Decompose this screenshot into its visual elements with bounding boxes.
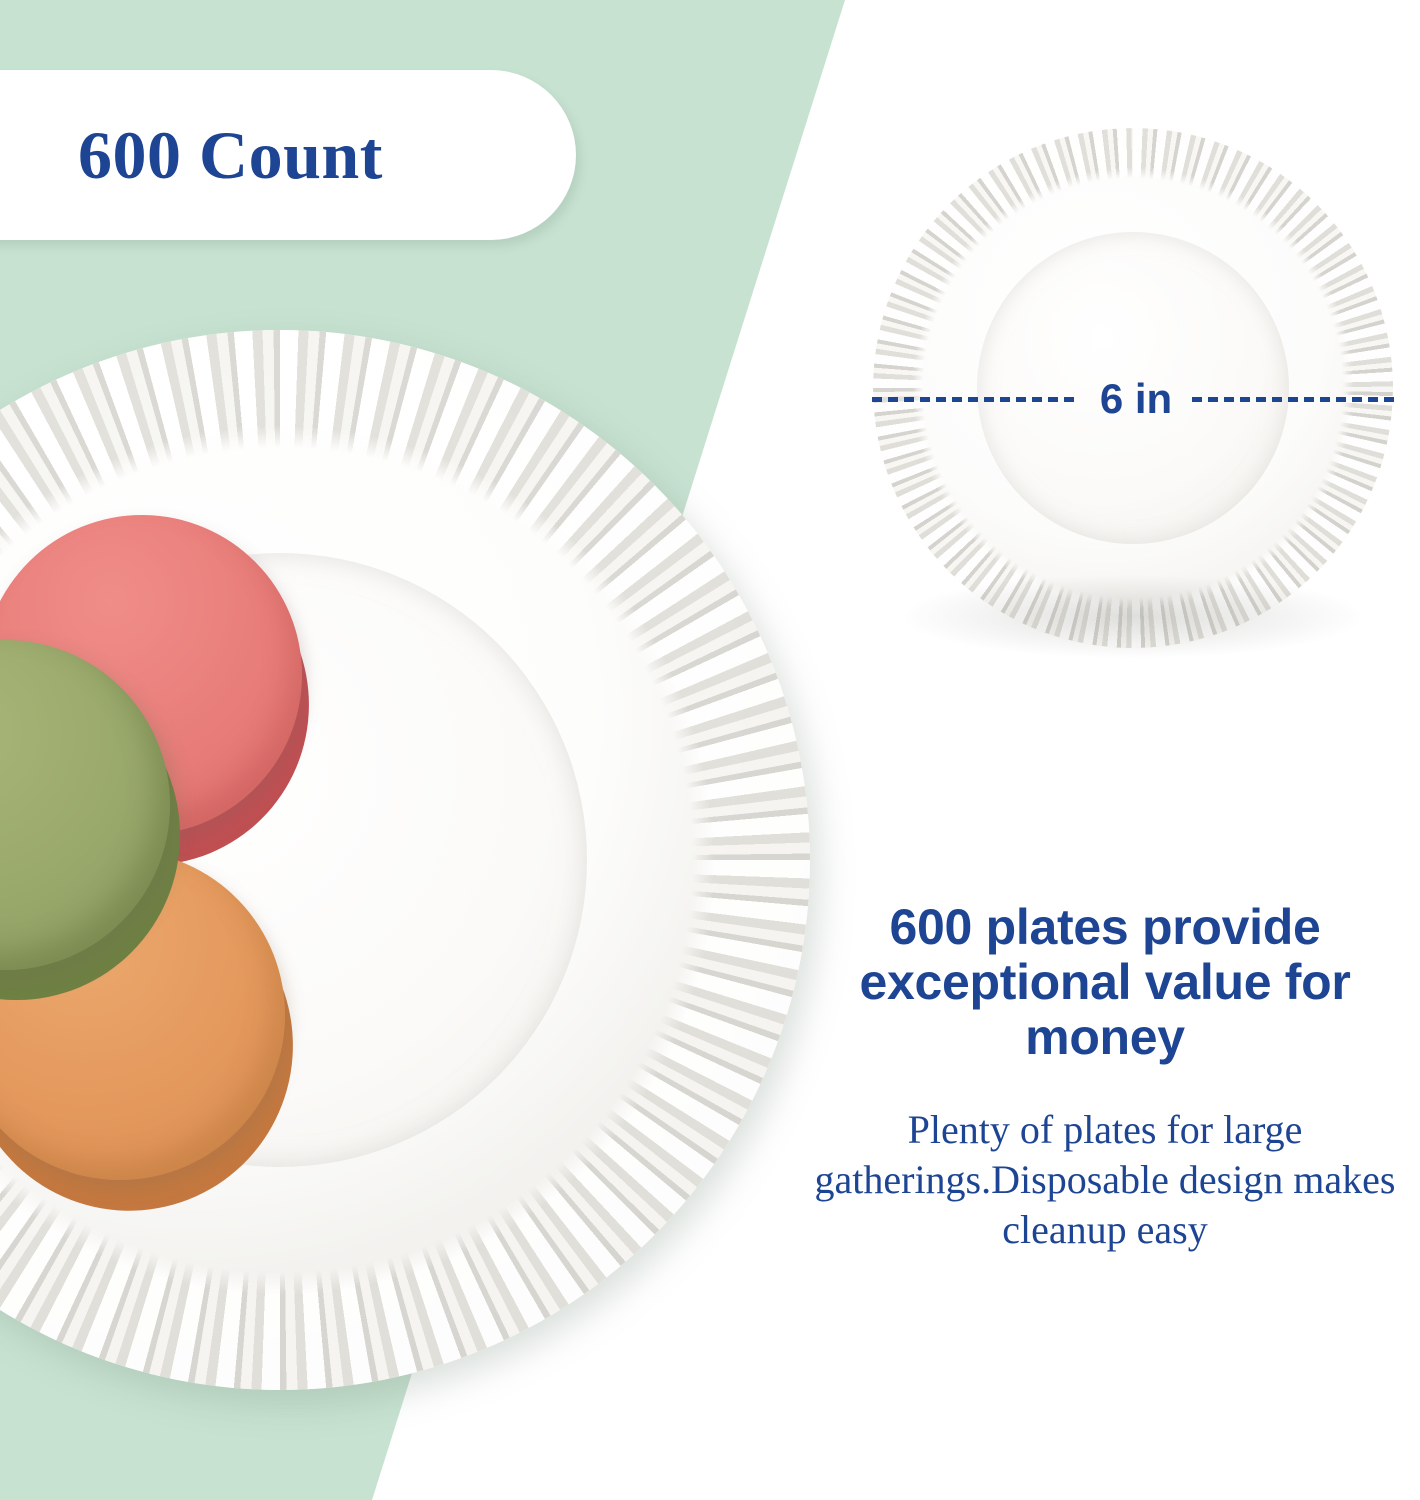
marketing-heading: 600 plates provide exceptional value for… [800,900,1410,1065]
dimension-dashed-line-left [872,397,1080,402]
product-marketing-image: 600 Count 6 in 600 plates provide except… [0,0,1420,1500]
marketing-body-text: Plenty of plates for large gatherings.Di… [800,1105,1410,1255]
dimension-annotation: 6 in [872,364,1400,434]
marketing-copy-block: 600 plates provide exceptional value for… [800,900,1410,1255]
dimension-dashed-line-right [1192,397,1400,402]
hero-photo-plate-with-macarons [0,330,810,1390]
count-badge-label: 600 Count [78,121,383,189]
count-badge: 600 Count [0,70,576,240]
dimension-label: 6 in [1096,378,1176,420]
product-plate-drop-shadow [904,575,1362,658]
